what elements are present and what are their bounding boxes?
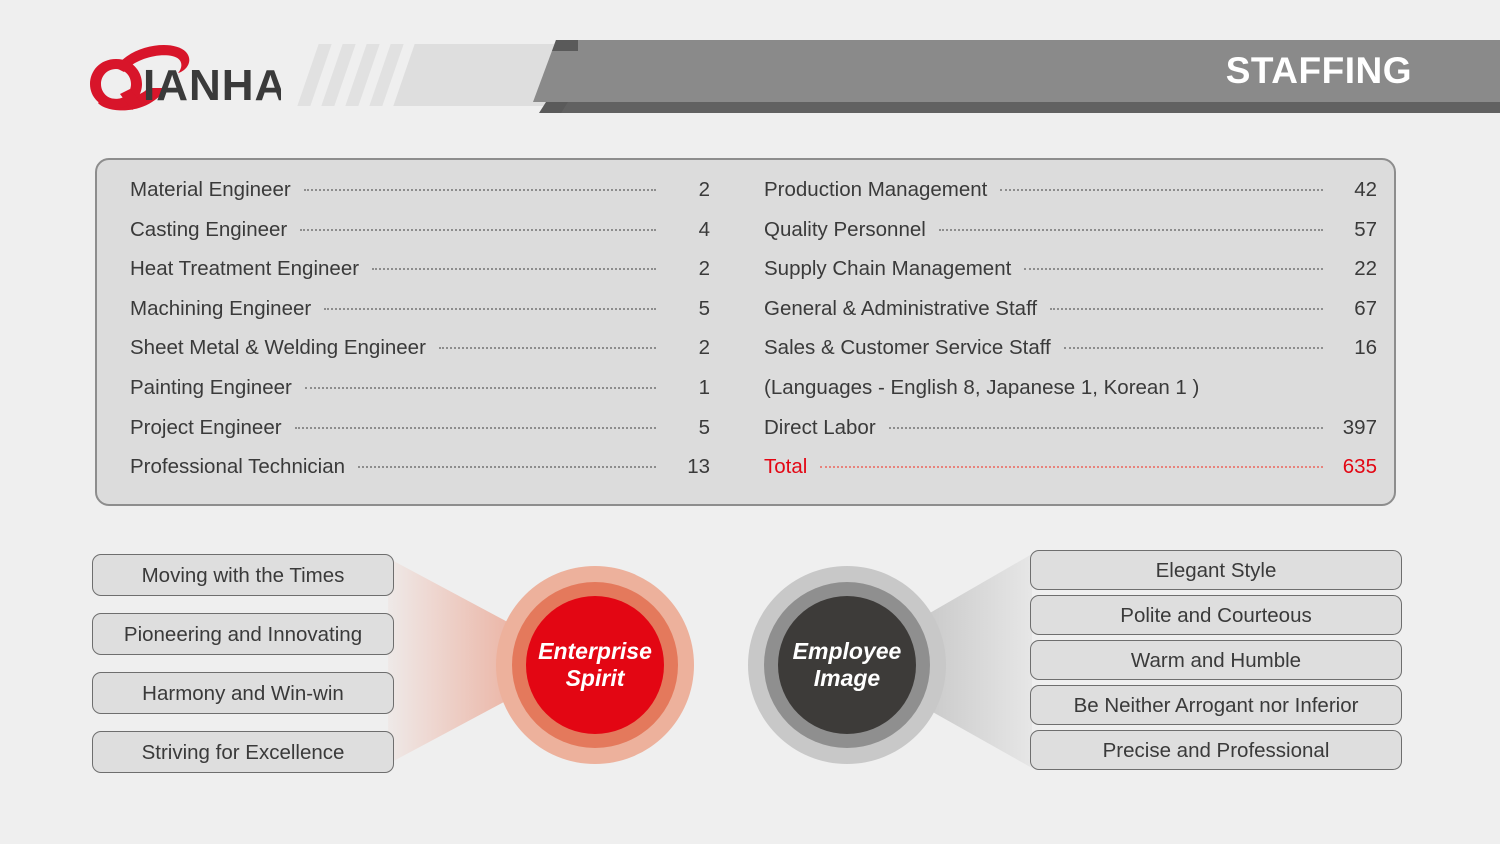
staff-row-label: Material Engineer xyxy=(130,178,300,202)
staff-row-value: 5 xyxy=(660,297,710,321)
staff-row-label: Casting Engineer xyxy=(130,218,296,242)
staff-row-value: 57 xyxy=(1327,218,1377,242)
staff-row-label: Quality Personnel xyxy=(764,218,935,242)
staff-row: Casting Engineer4 xyxy=(130,218,710,258)
banner-fold-top xyxy=(552,40,578,51)
staff-row-value: 42 xyxy=(1327,178,1377,202)
staff-row-value: 397 xyxy=(1327,416,1377,440)
staff-row-leader xyxy=(358,466,656,468)
staff-row-label: Supply Chain Management xyxy=(764,257,1020,281)
staff-row-leader xyxy=(820,466,1323,468)
staff-row-label: General & Administrative Staff xyxy=(764,297,1046,321)
staff-row-label: Total xyxy=(764,455,816,479)
staff-row: Production Management42 xyxy=(764,178,1377,218)
employee-hub-label: Employee Image xyxy=(793,638,902,692)
svg-text:IANHAO: IANHAO xyxy=(143,61,281,110)
tag-box[interactable]: Elegant Style xyxy=(1030,550,1402,590)
staff-row: General & Administrative Staff67 xyxy=(764,297,1377,337)
tag-box[interactable]: Moving with the Times xyxy=(92,554,394,596)
staff-row: Total635 xyxy=(764,455,1377,495)
staff-row-label: Sales & Customer Service Staff xyxy=(764,336,1060,360)
staff-row-leader xyxy=(295,427,656,429)
staffing-panel: Material Engineer2Casting Engineer4Heat … xyxy=(95,158,1396,506)
staff-row-value: 16 xyxy=(1327,336,1377,360)
staff-row: Project Engineer5 xyxy=(130,416,710,456)
staff-row: Direct Labor397 xyxy=(764,416,1377,456)
staffing-left-column: Material Engineer2Casting Engineer4Heat … xyxy=(130,178,710,495)
staff-row-value: 2 xyxy=(660,257,710,281)
tag-box[interactable]: Polite and Courteous xyxy=(1030,595,1402,635)
staff-row: Professional Technician13 xyxy=(130,455,710,495)
tag-box[interactable]: Warm and Humble xyxy=(1030,640,1402,680)
banner-shadow-strip xyxy=(533,102,1500,113)
spirit-hub: Enterprise Spirit xyxy=(526,596,664,734)
staff-row-label: Direct Labor xyxy=(764,416,885,440)
staff-row-label: Machining Engineer xyxy=(130,297,320,321)
staff-row-value: 2 xyxy=(660,178,710,202)
staff-row-leader xyxy=(439,347,656,349)
staff-row-value: 67 xyxy=(1327,297,1377,321)
staff-row-leader xyxy=(939,229,1323,231)
tag-box[interactable]: Be Neither Arrogant nor Inferior xyxy=(1030,685,1402,725)
staff-row-leader xyxy=(304,189,656,191)
slide-header: IANHAO STAFFING xyxy=(0,0,1500,150)
staff-row-value: 4 xyxy=(660,218,710,242)
qianhao-logo: IANHAO xyxy=(86,42,281,114)
header-stripe-decor xyxy=(300,44,570,106)
staff-row-leader xyxy=(300,229,656,231)
staff-row-label: Production Management xyxy=(764,178,996,202)
staff-row-leader xyxy=(1064,347,1323,349)
tag-box[interactable]: Precise and Professional xyxy=(1030,730,1402,770)
staff-row: Material Engineer2 xyxy=(130,178,710,218)
staff-row: Quality Personnel57 xyxy=(764,218,1377,258)
tag-box[interactable]: Striving for Excellence xyxy=(92,731,394,773)
spirit-tag-list: Moving with the TimesPioneering and Inno… xyxy=(92,554,394,790)
logo-icon: IANHAO xyxy=(86,42,281,114)
staff-row-value: 635 xyxy=(1327,455,1377,479)
staff-row: Sheet Metal & Welding Engineer2 xyxy=(130,336,710,376)
staff-row-label: Sheet Metal & Welding Engineer xyxy=(130,336,435,360)
staff-row: Painting Engineer1 xyxy=(130,376,710,416)
staff-row-value: 22 xyxy=(1327,257,1377,281)
staff-row-value: 13 xyxy=(660,455,710,479)
employee-tag-list: Elegant StylePolite and CourteousWarm an… xyxy=(1030,550,1402,775)
staff-row-label: Professional Technician xyxy=(130,455,354,479)
staff-row-label: Heat Treatment Engineer xyxy=(130,257,368,281)
staff-row: Machining Engineer5 xyxy=(130,297,710,337)
staff-row-label: (Languages - English 8, Japanese 1, Kore… xyxy=(764,376,1208,400)
staff-row-leader xyxy=(1000,189,1323,191)
staff-row-label: Painting Engineer xyxy=(130,376,301,400)
staff-row: Sales & Customer Service Staff16 xyxy=(764,336,1377,376)
staff-row-value: 2 xyxy=(660,336,710,360)
staff-row: (Languages - English 8, Japanese 1, Kore… xyxy=(764,376,1377,416)
staff-row-leader xyxy=(1024,268,1323,270)
page-title: STAFFING xyxy=(1226,40,1412,102)
staff-row: Supply Chain Management22 xyxy=(764,257,1377,297)
staff-row-value: 1 xyxy=(660,376,710,400)
title-banner: STAFFING xyxy=(533,40,1500,112)
spirit-hub-label: Enterprise Spirit xyxy=(538,638,652,692)
tag-box[interactable]: Harmony and Win-win xyxy=(92,672,394,714)
staff-row-leader xyxy=(324,308,656,310)
staff-row-value: 5 xyxy=(660,416,710,440)
tag-box[interactable]: Pioneering and Innovating xyxy=(92,613,394,655)
staffing-right-column: Production Management42Quality Personnel… xyxy=(764,178,1377,495)
staff-row: Heat Treatment Engineer2 xyxy=(130,257,710,297)
staff-row-leader xyxy=(1050,308,1323,310)
staff-row-leader xyxy=(372,268,656,270)
staff-row-label: Project Engineer xyxy=(130,416,291,440)
employee-hub: Employee Image xyxy=(778,596,916,734)
staff-row-leader xyxy=(305,387,656,389)
staff-row-leader xyxy=(889,427,1323,429)
